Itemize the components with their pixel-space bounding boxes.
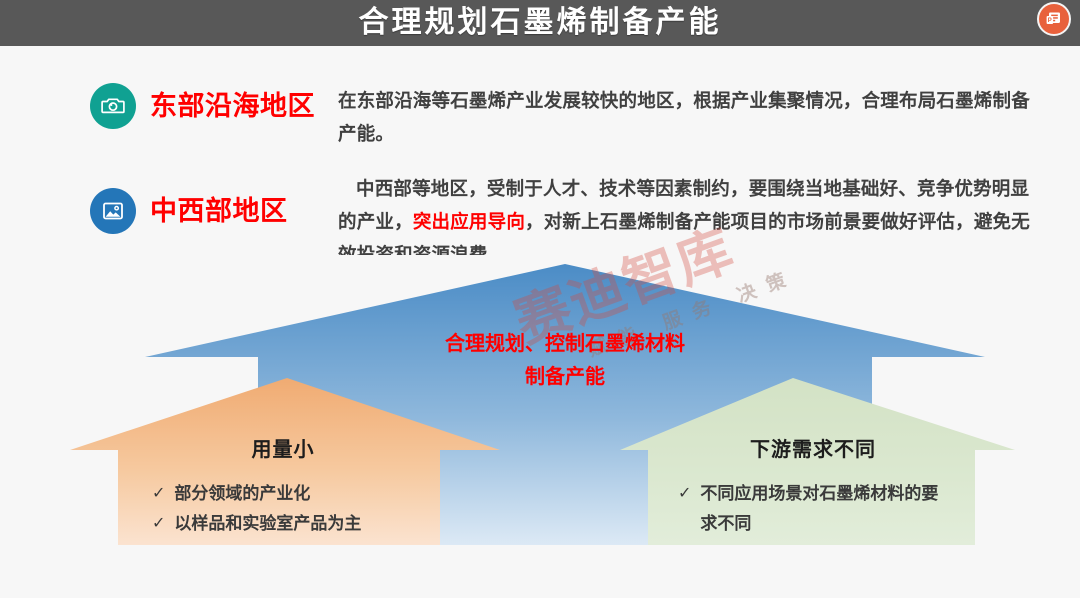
image-icon: [90, 188, 136, 234]
paragraph-central-west-highlight: 突出应用导向: [413, 211, 525, 232]
list-item-label: 部分领域的产业化: [174, 479, 452, 509]
region-label-central-west: 中西部地区: [150, 188, 288, 234]
check-icon: ✓: [678, 479, 691, 509]
camera-glyph-icon: [100, 93, 126, 119]
check-icon: ✓: [152, 509, 165, 539]
region-row-central-west: 中西部地区: [90, 188, 288, 234]
slide-title-bar: 合理规划石墨烯制备产能 P: [0, 0, 1080, 46]
check-icon: ✓: [152, 479, 165, 509]
list-item: ✓ 不同应用场景对石墨烯材料的要求不同: [678, 479, 948, 539]
paragraph-east-coast: 在东部沿海等石墨烯产业发展较快的地区，根据产业集聚情况，合理布局石墨烯制备产能。: [338, 84, 1044, 150]
powerpoint-glyph-icon: P: [1044, 9, 1064, 29]
left-house-heading: 用量小: [118, 436, 448, 464]
list-item: ✓ 部分领域的产业化: [152, 479, 452, 509]
region-label-east-coast: 东部沿海地区: [150, 83, 315, 129]
region-row-east-coast: 东部沿海地区: [90, 83, 315, 129]
camera-icon: [90, 83, 136, 129]
list-item: ✓ 以样品和实验室产品为主: [152, 509, 452, 539]
list-item-line1: 不同应用场景对石墨烯材: [700, 484, 887, 503]
center-arrow-line2: 制备产能: [355, 361, 775, 394]
list-item-label: 不同应用场景对石墨烯材料的要求不同: [700, 479, 948, 539]
paragraph-central-west: 中西部等地区，受制于人才、技术等因素制约，要围绕当地基础好、竞争优势明显的产业，…: [338, 172, 1044, 271]
left-house-bullets: ✓ 部分领域的产业化 ✓ 以样品和实验室产品为主: [152, 479, 452, 539]
list-item-label: 以样品和实验室产品为主: [174, 509, 452, 539]
page-title: 合理规划石墨烯制备产能: [359, 8, 722, 38]
center-arrow-line1: 合理规划、控制石墨烯材料: [355, 328, 775, 361]
powerpoint-logo[interactable]: P: [1037, 2, 1071, 36]
center-arrow-title: 合理规划、控制石墨烯材料 制备产能: [355, 328, 775, 394]
svg-text:P: P: [1048, 18, 1052, 24]
right-house-bullets: ✓ 不同应用场景对石墨烯材料的要求不同: [678, 479, 948, 539]
image-glyph-icon: [100, 198, 126, 224]
diagram-backdrop: [0, 255, 1080, 598]
right-house-heading: 下游需求不同: [648, 436, 978, 464]
